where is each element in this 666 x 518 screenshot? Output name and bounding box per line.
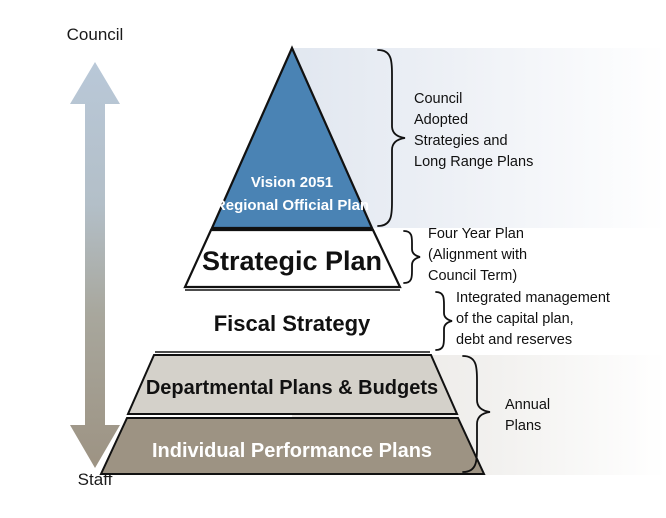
annotation-four-year-plan: Four Year Plan (Alignment with Council T…	[428, 226, 527, 284]
annotation-four-year-plan-line-2: (Alignment with	[428, 247, 527, 263]
annotation-council-adopted-line-1: Council	[414, 91, 462, 107]
tier-vision-label-line2: Regional Official Plan	[215, 197, 369, 214]
annotation-four-year-plan-line-1: Four Year Plan	[428, 226, 524, 242]
annotation-four-year-plan-line-3: Council Term)	[428, 268, 517, 284]
axis-label-council: Council	[67, 25, 124, 44]
tier-strategic-plan-label: Strategic Plan	[202, 246, 382, 276]
pyramid-diagram-svg: Council Staff Vision 2051 Regional Offic…	[0, 0, 666, 518]
annotation-council-adopted-line-2: Adopted	[414, 112, 468, 128]
tier-departmental-plans-label: Departmental Plans & Budgets	[146, 377, 438, 399]
tier-fiscal-strategy-label: Fiscal Strategy	[214, 311, 371, 336]
annotation-integrated-management-line-2: of the capital plan,	[456, 311, 574, 327]
tier-fiscal-strategy[interactable]: Fiscal Strategy	[155, 290, 430, 352]
diagram-canvas: Council Staff Vision 2051 Regional Offic…	[0, 0, 666, 518]
annotation-annual-plans-line-1: Annual	[505, 397, 550, 413]
annotation-annual-plans-line-2: Plans	[505, 418, 541, 434]
tier-individual-performance[interactable]: Individual Performance Plans	[101, 418, 484, 474]
tier-vision-label-line1: Vision 2051	[251, 174, 333, 191]
annotation-integrated-management-line-3: debt and reserves	[456, 332, 572, 348]
tier-individual-performance-label: Individual Performance Plans	[152, 440, 432, 462]
tier-departmental-plans[interactable]: Departmental Plans & Budgets	[128, 355, 457, 414]
annotation-council-adopted-line-4: Long Range Plans	[414, 154, 533, 170]
annotation-integrated-management-line-1: Integrated management	[456, 290, 610, 306]
council-to-staff-arrow	[70, 62, 120, 468]
tier-strategic-plan[interactable]: Strategic Plan	[185, 230, 400, 287]
annotation-council-adopted-line-3: Strategies and	[414, 133, 508, 149]
